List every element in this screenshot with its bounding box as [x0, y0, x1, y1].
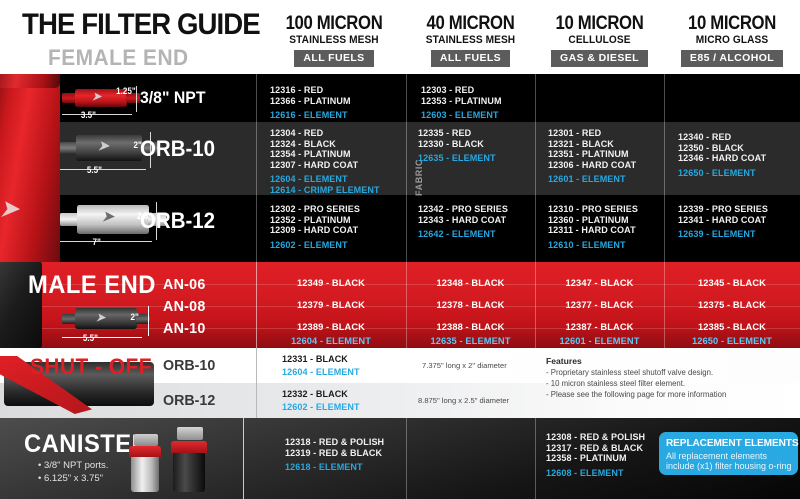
column-divider [243, 418, 244, 499]
callout-title: REPLACEMENT ELEMENTS [666, 437, 786, 449]
cell-38npt-40micron: 12303 - RED 12353 - PLATINUM 12603 - ELE… [421, 85, 504, 121]
part-number-element: 12639 - ELEMENT [678, 229, 768, 240]
part-number: 12353 - PLATINUM [421, 96, 502, 107]
section-title-male-end: MALE END [28, 271, 156, 300]
column-divider [664, 74, 665, 262]
fabric-vertical-label: FABRIC [414, 159, 424, 196]
part-number: 12302 - PRO SERIES [270, 204, 360, 215]
part-number-element: 12650 - ELEMENT [678, 168, 766, 179]
dimension-line-horizontal [60, 241, 152, 242]
part-number: 12358 - PLATINUM [546, 453, 645, 464]
part-number: 12366 - PLATINUM [270, 96, 351, 107]
dimension-length-label: 3.5" [81, 110, 96, 120]
male-cell-element-10micron-microglass: 12650 - ELEMENT [664, 336, 800, 347]
dimension-line-vertical [148, 306, 149, 336]
part-number-element: 12604 - ELEMENT [270, 174, 380, 185]
filter-image-38npt: ➤ [62, 86, 152, 110]
column-divider [256, 348, 257, 418]
column-divider [406, 74, 407, 262]
part-number: 12332 - BLACK [282, 389, 360, 400]
features-item: - Please see the following page for more… [546, 390, 726, 400]
part-number: 12350 - BLACK [678, 143, 766, 154]
part-number: 12340 - RED [678, 132, 766, 143]
dimension-length-label: 5.5" [87, 165, 102, 175]
canister-bracket [134, 434, 158, 446]
part-number: 12377 - BLACK [535, 300, 664, 311]
part-number-element: 12604 - ELEMENT [282, 367, 360, 378]
male-cell-an10-10micron-microglass: 12385 - BLACK [664, 322, 800, 333]
replacement-elements-callout: REPLACEMENT ELEMENTS All replacement ele… [659, 432, 798, 475]
column-header-100-micron: 100 MICRON STAINLESS MESH ALL FUELS [262, 14, 406, 67]
male-cell-element-10micron-cellulose: 12601 - ELEMENT [535, 336, 664, 347]
male-size-an06: AN-06 [163, 276, 206, 293]
part-number-element: 12650 - ELEMENT [664, 336, 800, 347]
dimension-line-horizontal [62, 114, 132, 115]
part-number: 12316 - RED [270, 85, 351, 96]
part-number-element: 12602 - ELEMENT [270, 240, 360, 251]
filter-image-male: ➤ [62, 306, 172, 332]
column-micron-label: 40 MICRON [414, 14, 528, 33]
male-cell-an10-100micron: 12389 - BLACK [256, 322, 406, 333]
column-fuel-badge: ALL FUELS [431, 50, 510, 67]
brand-logo-icon: ➤ [96, 311, 105, 324]
column-divider [256, 74, 257, 262]
red-bottle-graphic: ➤ [0, 78, 60, 262]
part-number-crimp-element: 12614 - CRIMP ELEMENT [270, 185, 380, 196]
male-cell-element-40micron: 12635 - ELEMENT [406, 336, 535, 347]
male-cell-an06-100micron: 12349 - BLACK [256, 278, 406, 289]
part-number: 12347 - BLACK [535, 278, 664, 289]
brand-logo-icon: ➤ [102, 209, 114, 226]
filter-endcap [60, 142, 77, 154]
callout-body-line2: include (x1) filter housing o-ring [666, 461, 791, 471]
shutoff-section: SHUT - OFF ORB-10 ORB-12 12331 - BLACK 1… [0, 348, 800, 418]
column-header-10-micron-cellulose: 10 MICRON CELLULOSE GAS & DIESEL [535, 14, 664, 67]
male-cell-an08-100micron: 12379 - BLACK [256, 300, 406, 311]
column-fuel-badge: ALL FUELS [294, 50, 373, 67]
part-number: 12354 - PLATINUM [270, 149, 380, 160]
part-number: 12343 - HARD COAT [418, 215, 508, 226]
part-number: 12324 - BLACK [270, 139, 380, 150]
part-number: 12375 - BLACK [664, 300, 800, 311]
part-number-element: 12635 - ELEMENT [406, 336, 535, 347]
part-number-element: 12608 - ELEMENT [546, 468, 645, 479]
column-media-label: MICRO GLASS [669, 34, 794, 46]
cell-38npt-100micron: 12316 - RED 12366 - PLATINUM 12616 - ELE… [270, 85, 353, 121]
column-micron-label: 10 MICRON [672, 14, 792, 33]
shutoff-port-orb12: ORB-12 [163, 392, 215, 409]
canister-body [173, 453, 205, 492]
shutoff-cell-orb10: 12331 - BLACK 12604 - ELEMENT [282, 354, 362, 377]
cell-orb10-100micron: 12304 - RED 12324 - BLACK 12354 - PLATIN… [270, 128, 383, 196]
part-number-element: 12601 - ELEMENT [535, 336, 664, 347]
male-cell-an08-10micron-microglass: 12375 - BLACK [664, 300, 800, 311]
dimension-diameter-label: 2" [130, 312, 138, 322]
part-number: 12309 - HARD COAT [270, 225, 360, 236]
page-title: THE FILTER GUIDE [22, 8, 260, 42]
part-number: 12352 - PLATINUM [270, 215, 360, 226]
filter-endcap [60, 213, 78, 226]
brand-logo-icon: ➤ [0, 196, 40, 222]
column-micron-label: 10 MICRON [543, 14, 657, 33]
part-number: 12351 - PLATINUM [548, 149, 636, 160]
page-header: THE FILTER GUIDE FEMALE END 100 MICRON S… [0, 0, 800, 74]
male-cell-an08-40micron: 12378 - BLACK [406, 300, 535, 311]
filter-endcap [62, 314, 76, 324]
part-number-element: 12604 - ELEMENT [256, 336, 406, 347]
cell-orb12-10micron-cellulose: 12310 - PRO SERIES 12360 - PLATINUM 1231… [548, 204, 641, 250]
part-number: 12306 - HARD COAT [548, 160, 636, 171]
part-number-element: 12635 - ELEMENT [418, 153, 496, 164]
features-heading: Features [546, 356, 582, 366]
column-header-40-micron: 40 MICRON STAINLESS MESH ALL FUELS [406, 14, 535, 67]
part-number: 12388 - BLACK [406, 322, 535, 333]
part-number-element: 12601 - ELEMENT [548, 174, 636, 185]
row-label-orb10: ORB-10 [140, 136, 215, 162]
cell-orb12-10micron-microglass: 12339 - PRO SERIES 12341 - HARD COAT 126… [678, 204, 771, 240]
cell-orb12-100micron: 12302 - PRO SERIES 12352 - PLATINUM 1230… [270, 204, 363, 250]
column-media-label: STAINLESS MESH [411, 34, 530, 46]
column-divider [535, 418, 536, 499]
brand-logo-icon: ➤ [92, 90, 101, 103]
part-number-element: 12610 - ELEMENT [548, 240, 638, 251]
male-cell-an06-10micron-cellulose: 12347 - BLACK [535, 278, 664, 289]
part-number: 12304 - RED [270, 128, 380, 139]
part-number: 12379 - BLACK [256, 300, 406, 311]
part-number: 12319 - RED & BLACK [285, 448, 384, 459]
canister-cell-100micron: 12318 - RED & POLISH 12319 - RED & BLACK… [285, 437, 387, 473]
filter-guide-sheet: THE FILTER GUIDE FEMALE END 100 MICRON S… [0, 0, 800, 499]
canister-bullet: • 3/8" NPT ports. [38, 460, 108, 471]
dimension-length-label: 5.5" [83, 333, 98, 343]
part-number-element: 12618 - ELEMENT [285, 462, 384, 473]
cell-orb10-10micron-microglass: 12340 - RED 12350 - BLACK 12346 - HARD C… [678, 132, 769, 178]
features-item: - 10 micron stainless steel filter eleme… [546, 379, 685, 389]
canister-bracket [177, 427, 203, 440]
part-number: 12310 - PRO SERIES [548, 204, 638, 215]
canister-image-black [170, 430, 208, 492]
shutoff-cell-orb12: 12332 - BLACK 12602 - ELEMENT [282, 389, 362, 412]
male-cell-an06-10micron-microglass: 12345 - BLACK [664, 278, 800, 289]
part-number: 12342 - PRO SERIES [418, 204, 508, 215]
part-number: 12339 - PRO SERIES [678, 204, 768, 215]
part-number: 12308 - RED & POLISH [546, 432, 645, 443]
column-divider [535, 74, 536, 262]
part-number: 12318 - RED & POLISH [285, 437, 384, 448]
column-media-label: STAINLESS MESH [268, 34, 400, 46]
cell-orb10-10micron-cellulose: 12301 - RED 12321 - BLACK 12351 - PLATIN… [548, 128, 639, 185]
brand-logo-icon: ➤ [98, 138, 109, 154]
cell-orb10-40micron: 12335 - RED 12330 - BLACK 12635 - ELEMEN… [418, 128, 498, 164]
canister-bullet: • 6.125" x 3.75" [38, 473, 103, 484]
features-item: - Proprietary stainless steel shutoff va… [546, 368, 713, 378]
shutoff-dimensions-orb10: 7.375" long x 2" diameter [422, 361, 507, 370]
column-divider [406, 418, 407, 499]
part-number: 12341 - HARD COAT [678, 215, 768, 226]
part-number-element: 12616 - ELEMENT [270, 110, 351, 121]
part-number-element: 12602 - ELEMENT [282, 402, 360, 413]
part-number-element: 12642 - ELEMENT [418, 229, 508, 240]
row-label-38npt: 3/8" NPT [140, 88, 205, 108]
part-number: 12349 - BLACK [256, 278, 406, 289]
dimension-length-label: 7" [92, 237, 100, 247]
part-number: 12307 - HARD COAT [270, 160, 380, 171]
column-media-label: CELLULOSE [540, 34, 659, 46]
male-cell-an08-10micron-cellulose: 12377 - BLACK [535, 300, 664, 311]
part-number: 12378 - BLACK [406, 300, 535, 311]
filter-body [76, 135, 142, 161]
part-number: 12311 - HARD COAT [548, 225, 638, 236]
part-number-element: 12603 - ELEMENT [421, 110, 502, 121]
male-cell-an10-40micron: 12388 - BLACK [406, 322, 535, 333]
section-title-shutoff: SHUT - OFF [30, 354, 152, 380]
male-cell-an06-40micron: 12348 - BLACK [406, 278, 535, 289]
column-fuel-badge: E85 / ALCOHOL [681, 50, 783, 67]
part-number: 12317 - RED & BLACK [546, 443, 645, 454]
part-number: 12360 - PLATINUM [548, 215, 638, 226]
part-number: 12331 - BLACK [282, 354, 360, 365]
male-cell-an10-10micron-cellulose: 12387 - BLACK [535, 322, 664, 333]
part-number: 12303 - RED [421, 85, 502, 96]
part-number: 12346 - HARD COAT [678, 153, 766, 164]
male-end-section: MALE END AN-06 AN-08 AN-10 ➤ 5.5" 2" 123… [0, 262, 800, 348]
part-number: 12385 - BLACK [664, 322, 800, 333]
female-end-section: ➤ ➤ 3.5" 1.25" 3/8" NPT 12316 - RED 1236… [0, 74, 800, 262]
canister-image-polish [128, 436, 162, 492]
part-number: 12321 - BLACK [548, 139, 636, 150]
shutoff-dimensions-orb12: 8.875" long x 2.5" diameter [418, 396, 509, 405]
cell-orb12-40micron: 12342 - PRO SERIES 12343 - HARD COAT 126… [418, 204, 511, 240]
male-cell-element-100micron: 12604 - ELEMENT [256, 336, 406, 347]
part-number: 12348 - BLACK [406, 278, 535, 289]
part-number: 12335 - RED [418, 128, 496, 139]
canister-body [131, 457, 159, 492]
callout-body-line1: All replacement elements [666, 451, 791, 461]
canister-cell-10micron-cellulose: 12308 - RED & POLISH 12317 - RED & BLACK… [546, 432, 648, 478]
column-header-10-micron-micro-glass: 10 MICRON MICRO GLASS E85 / ALCOHOL [664, 14, 800, 67]
part-number: 12301 - RED [548, 128, 636, 139]
filter-body [75, 308, 137, 329]
filter-endcap [62, 93, 76, 103]
part-number: 12387 - BLACK [535, 322, 664, 333]
row-label-orb12: ORB-12 [140, 208, 215, 234]
column-fuel-badge: GAS & DIESEL [551, 50, 648, 67]
part-number: 12389 - BLACK [256, 322, 406, 333]
column-micron-label: 100 MICRON [271, 14, 398, 33]
part-number: 12345 - BLACK [664, 278, 800, 289]
shutoff-port-orb10: ORB-10 [163, 357, 215, 374]
dimension-line-horizontal [60, 169, 146, 170]
part-number: 12330 - BLACK [418, 139, 496, 150]
section-subtitle-female-end: FEMALE END [48, 45, 189, 71]
dimension-diameter-label: 1.25" [116, 86, 136, 96]
dimension-line-horizontal [62, 337, 142, 338]
dimension-line-vertical [136, 86, 137, 112]
